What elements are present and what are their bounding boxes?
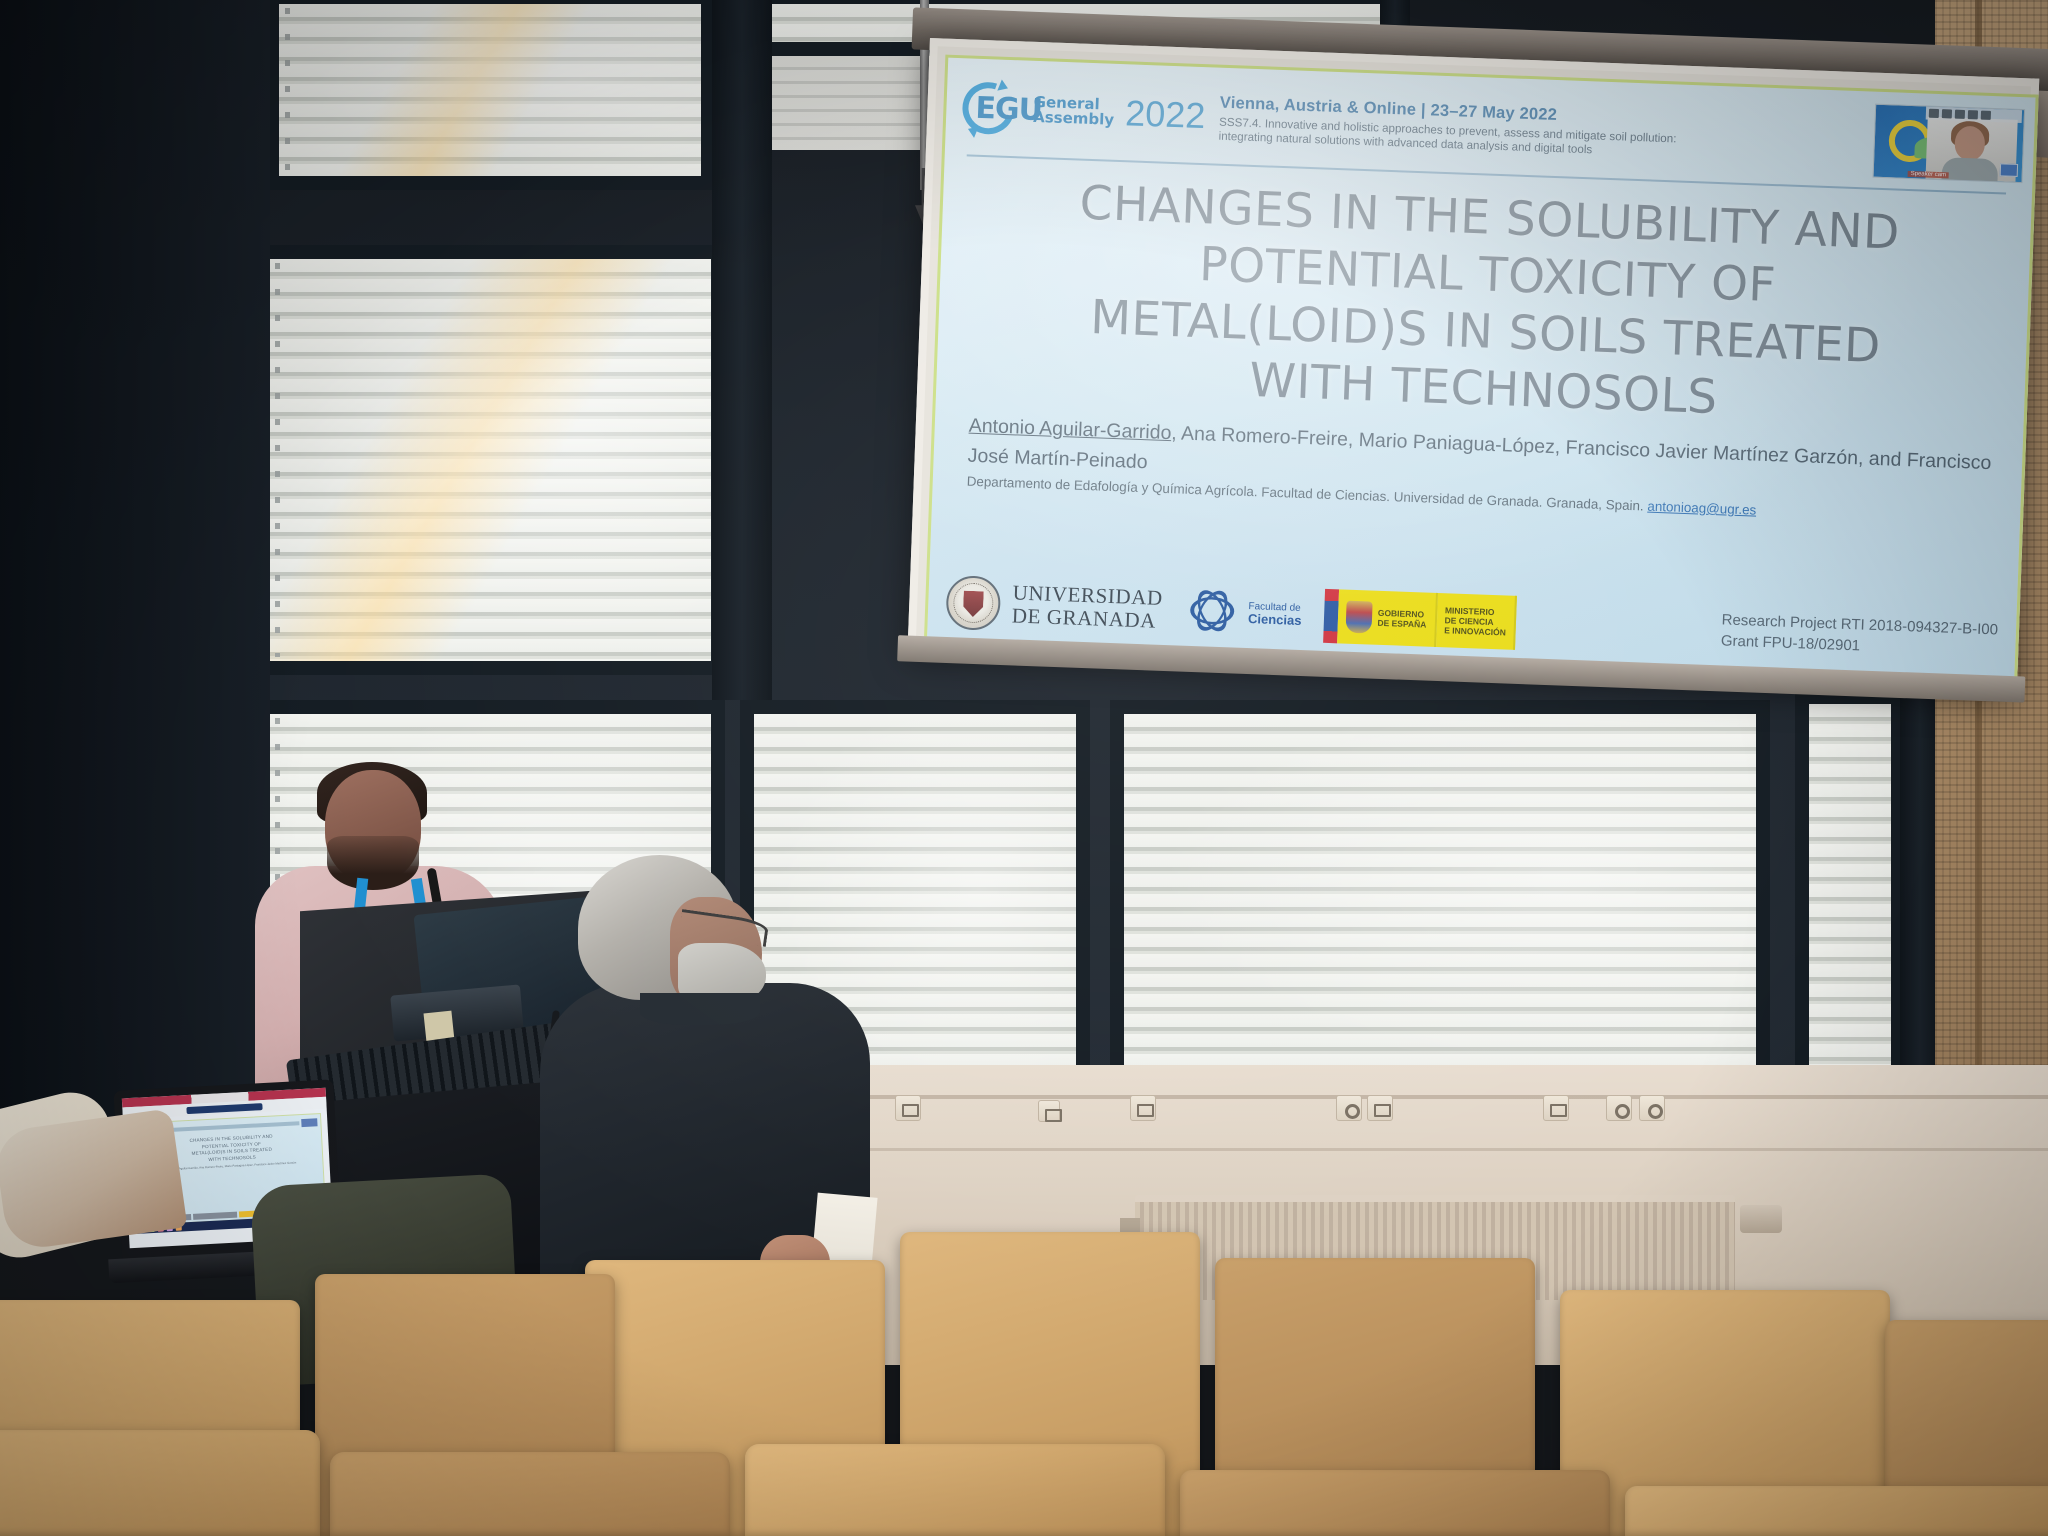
- camera-icon[interactable]: [1955, 110, 1965, 119]
- audience-member-front: [530, 855, 890, 1325]
- more-icon[interactable]: [1981, 111, 1991, 120]
- people-icon[interactable]: [1968, 110, 1978, 119]
- egu-logo: EGU General Assembly 2022: [961, 77, 1206, 146]
- window-top-left: [265, 0, 715, 190]
- blind-cord[interactable]: [275, 263, 280, 657]
- presenting-author-name: Antonio Aguilar-Garrido: [968, 415, 1171, 444]
- participant-body: [1941, 157, 1998, 183]
- window-glow: [269, 259, 711, 661]
- ministerio-label: MINISTERIO DE CIENCIA E INNOVACIÓN: [1444, 605, 1507, 637]
- atom-icon: [1183, 584, 1241, 640]
- gobierno-panel: GOBIERNO DE ESPAÑA: [1337, 589, 1438, 647]
- power-outlet[interactable]: [895, 1095, 921, 1121]
- network-port[interactable]: [1336, 1095, 1362, 1121]
- gobierno-line-2: DE ESPAÑA: [1377, 618, 1426, 630]
- facultad-line-2: Ciencias: [1248, 613, 1302, 627]
- grant-info: Research Project RTI 2018-094327-B-I00 G…: [1721, 609, 1999, 661]
- wall-trim-lower: [690, 1148, 2048, 1151]
- egu-circular-arrow-icon: EGU: [961, 77, 1029, 139]
- seat-back-front-row: [330, 1452, 730, 1536]
- window-far-right: [1795, 690, 1905, 1090]
- laptop-header-line: [171, 1121, 299, 1132]
- slide-header-text: Vienna, Austria & Online | 23–27 May 202…: [1218, 89, 1861, 167]
- participant-head: [1954, 126, 1985, 161]
- gobierno-label: GOBIERNO DE ESPAÑA: [1377, 608, 1427, 630]
- ugr-seal-icon: [945, 575, 1001, 631]
- window-glow: [1124, 714, 1756, 1086]
- wall-pillar-left: [0, 0, 270, 1120]
- browser-tab[interactable]: [186, 1103, 262, 1114]
- egu-assembly-label: Assembly: [1033, 110, 1114, 128]
- network-port[interactable]: [1639, 1095, 1665, 1121]
- projection-screen: EGU General Assembly 2022 Vienna, Austri…: [908, 38, 2040, 688]
- egu-logo-letters: EGU: [975, 91, 1043, 128]
- spain-coat-of-arms-icon: [1345, 601, 1372, 634]
- blind-cord[interactable]: [285, 8, 290, 172]
- radiator-valve[interactable]: [1740, 1205, 1782, 1233]
- seat-back-front-row: [745, 1444, 1165, 1536]
- ugr-name-text: UNIVERSIDAD DE GRANADA: [1011, 581, 1163, 632]
- ugr-line-2: DE GRANADA: [1011, 604, 1162, 632]
- laptop-video-tile: [301, 1118, 317, 1127]
- audience-member-collar: [640, 993, 760, 1025]
- window-glow: [279, 4, 701, 176]
- mic-icon[interactable]: [1942, 109, 1952, 118]
- participant-name-label: Speaker cam: [1908, 171, 1950, 179]
- lecture-hall-photo: EGU General Assembly 2022 Vienna, Austri…: [0, 0, 2048, 1536]
- laptop-footer-logo: [193, 1212, 237, 1220]
- egu-general-assembly-text: General Assembly: [1033, 95, 1115, 128]
- wall-mullion-center: [712, 0, 772, 700]
- ministerio-panel: MINISTERIO DE CIENCIA E INNOVACIÓN: [1436, 593, 1518, 650]
- ministerio-line-3: E INNOVACIÓN: [1444, 625, 1506, 637]
- wall-switch[interactable]: [1038, 1100, 1060, 1122]
- video-call-overlay[interactable]: Speaker cam: [1873, 104, 2026, 183]
- video-self-thumbnail[interactable]: [2000, 163, 2018, 177]
- window-lower-right: [1110, 700, 1770, 1100]
- presentation-slide: EGU General Assembly 2022 Vienna, Austri…: [924, 55, 2039, 689]
- gobierno-de-espana-logo: GOBIERNO DE ESPAÑA MINISTERIO DE CIENCIA…: [1323, 589, 1518, 650]
- grid-icon[interactable]: [1929, 109, 1939, 118]
- power-outlet[interactable]: [1367, 1095, 1393, 1121]
- power-outlet[interactable]: [1130, 1095, 1156, 1121]
- window-mid-left: [255, 245, 725, 675]
- contact-email-link[interactable]: antonioag@ugr.es: [1647, 499, 1756, 518]
- slide-header: EGU General Assembly 2022 Vienna, Austri…: [945, 58, 2036, 190]
- facultad-ciencias-logo: Facultad de Ciencias: [1183, 584, 1302, 642]
- seat-back-front-row: [1625, 1486, 2048, 1536]
- universidad-de-granada-logo: UNIVERSIDAD DE GRANADA: [945, 575, 1163, 637]
- slide-title: CHANGES IN THE SOLUBILITY AND POTENTIAL …: [976, 171, 1998, 436]
- seat-back-front-row: [0, 1430, 320, 1536]
- seat-back-front-row: [1180, 1470, 1610, 1536]
- facultad-text: Facultad de Ciencias: [1248, 601, 1302, 627]
- power-outlet[interactable]: [1543, 1095, 1569, 1121]
- network-port[interactable]: [1606, 1095, 1632, 1121]
- egu-year-label: 2022: [1125, 92, 1207, 137]
- presenter-beard: [327, 836, 419, 890]
- window-blinds: [1809, 704, 1891, 1076]
- front-row-hand: [0, 1108, 187, 1252]
- screen-surface: EGU General Assembly 2022 Vienna, Austri…: [908, 38, 2040, 688]
